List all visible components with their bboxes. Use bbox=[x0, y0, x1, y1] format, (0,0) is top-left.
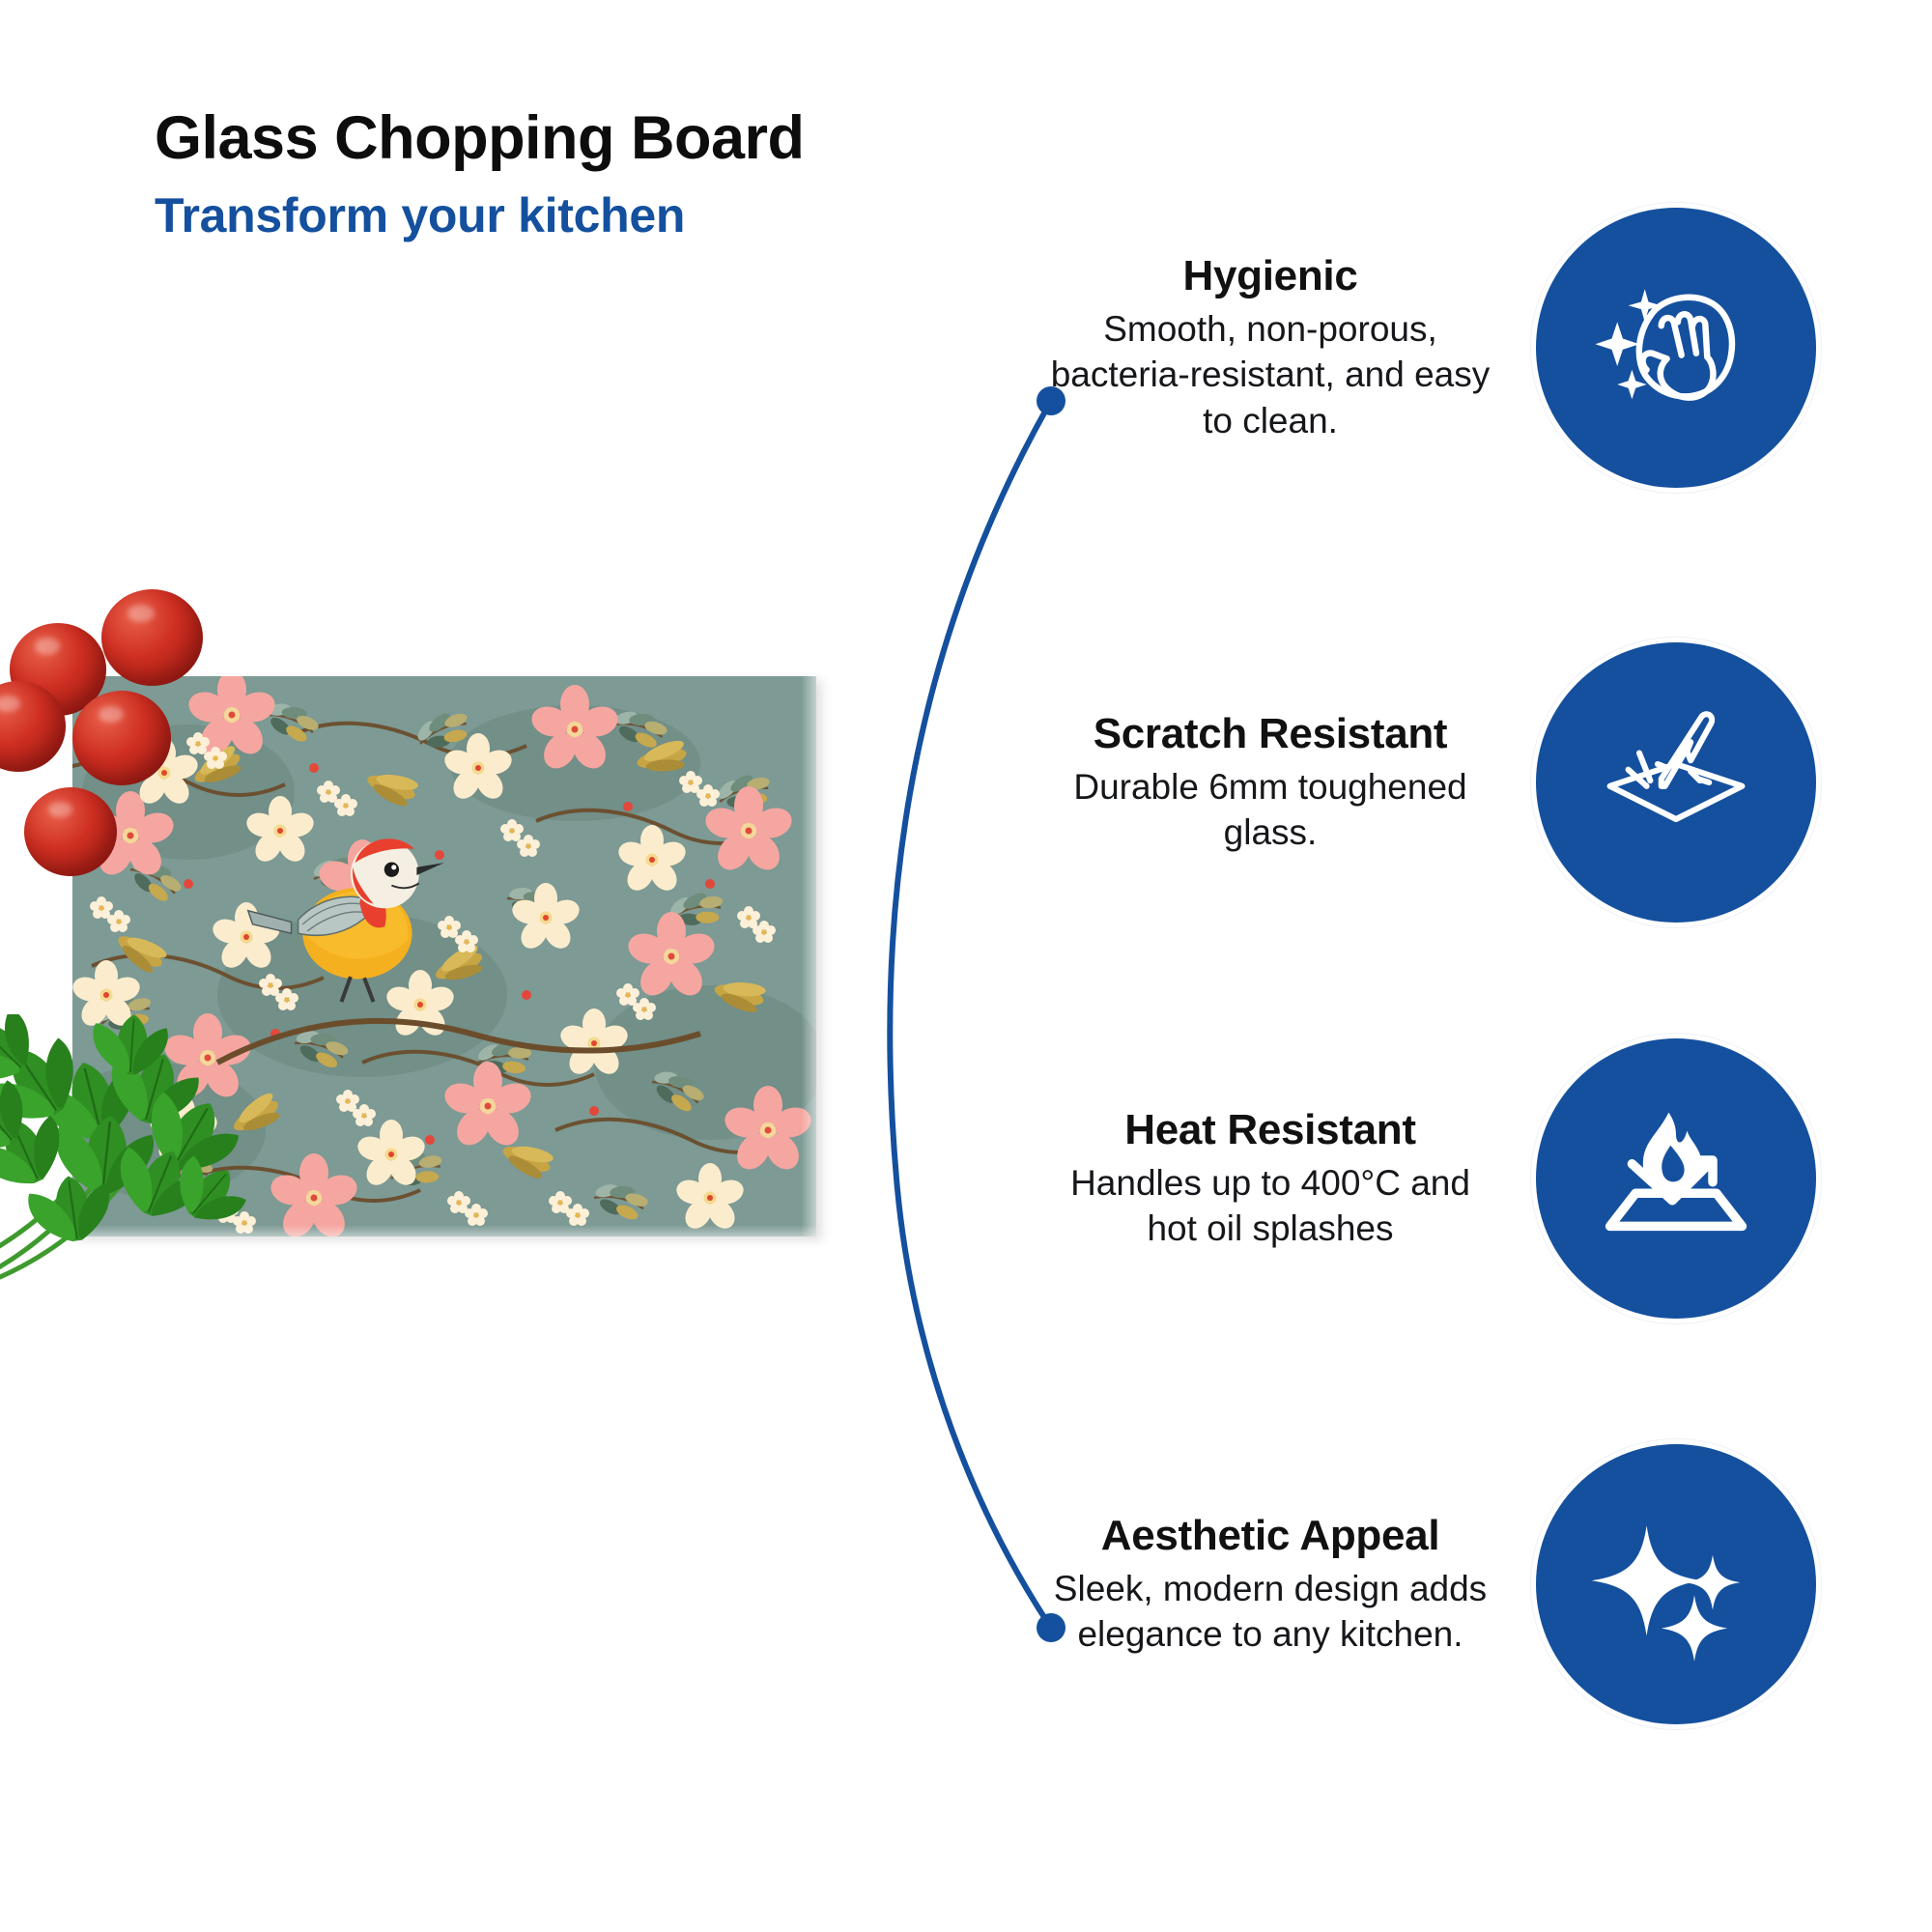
feature-icon-circle[interactable] bbox=[1536, 1038, 1816, 1319]
cherry-tomato bbox=[72, 691, 171, 785]
feature-description: Handles up to 400°C and hot oil splashes bbox=[1043, 1160, 1497, 1252]
sparkles-icon bbox=[1584, 1492, 1768, 1676]
feature-text-block: Hygienic Smooth, non-porous, bacteria-re… bbox=[1043, 252, 1497, 443]
feature-icon-circle[interactable] bbox=[1536, 1444, 1816, 1724]
feature-item-heat-resistant: Heat Resistant Handles up to 400°C and h… bbox=[1043, 1038, 1816, 1319]
cherry-tomato bbox=[101, 589, 203, 686]
feature-title: Aesthetic Appeal bbox=[1043, 1512, 1497, 1560]
feature-icon-circle[interactable] bbox=[1536, 642, 1816, 923]
feature-item-scratch-resistant: Scratch Resistant Durable 6mm toughened … bbox=[1043, 642, 1816, 923]
feature-description: Smooth, non-porous, bacteria-resistant, … bbox=[1043, 306, 1497, 443]
feature-title: Heat Resistant bbox=[1043, 1106, 1497, 1154]
cherry-tomato bbox=[24, 787, 117, 876]
feature-description: Durable 6mm toughened glass. bbox=[1043, 764, 1497, 856]
feature-title: Scratch Resistant bbox=[1043, 710, 1497, 758]
feature-icon-circle[interactable] bbox=[1536, 208, 1816, 488]
feature-text-block: Heat Resistant Handles up to 400°C and h… bbox=[1043, 1106, 1497, 1252]
product-image-stage bbox=[0, 599, 869, 1314]
feature-item-aesthetic-appeal: Aesthetic Appeal Sleek, modern design ad… bbox=[1043, 1444, 1816, 1724]
knife-impact-surface-icon bbox=[1584, 691, 1768, 874]
feature-title: Hygienic bbox=[1043, 252, 1497, 300]
feature-item-hygienic: Hygienic Smooth, non-porous, bacteria-re… bbox=[1043, 208, 1816, 488]
page-title: Glass Chopping Board bbox=[155, 106, 1217, 170]
feature-description: Sleek, modern design adds elegance to an… bbox=[1043, 1566, 1497, 1658]
flame-deflect-surface-icon bbox=[1584, 1087, 1768, 1270]
hand-wipe-sparkle-icon bbox=[1584, 256, 1768, 440]
feature-text-block: Scratch Resistant Durable 6mm toughened … bbox=[1043, 710, 1497, 856]
parsley-garnish bbox=[0, 1014, 280, 1285]
feature-text-block: Aesthetic Appeal Sleek, modern design ad… bbox=[1043, 1512, 1497, 1658]
